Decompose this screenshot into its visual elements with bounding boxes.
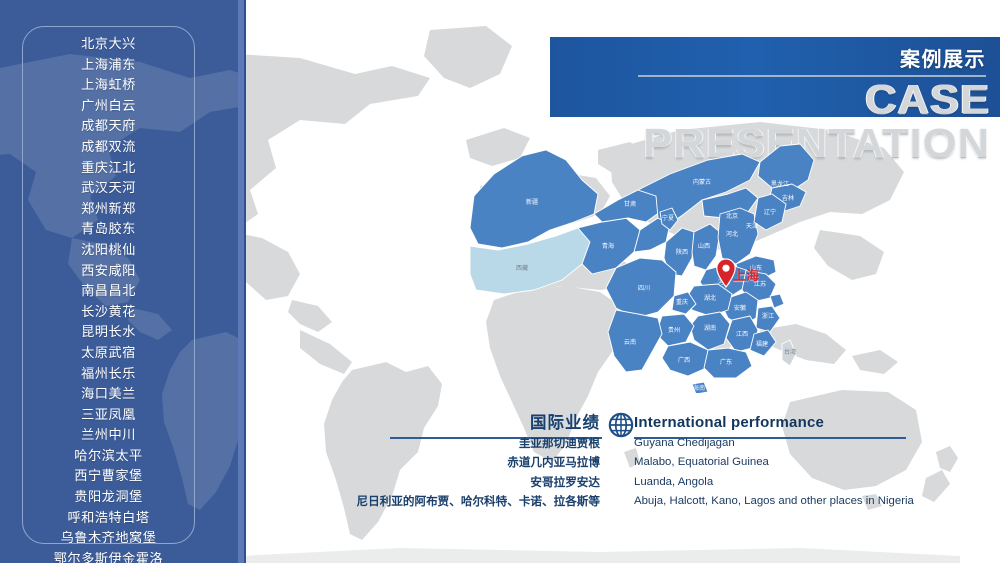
perf-row-cn: 赤道几内亚马拉博	[200, 453, 600, 472]
slide-canvas: 北京大兴上海浦东上海虹桥广州白云成都天府成都双流重庆江北武汉天河郑州新郑青岛胶东…	[0, 0, 1000, 563]
svg-text:四川: 四川	[638, 285, 650, 292]
svg-text:云南: 云南	[624, 338, 636, 346]
svg-text:天津: 天津	[746, 222, 758, 230]
perf-rows-en: Guyana ChedijaganMalabo, Equatorial Guin…	[634, 434, 964, 512]
svg-text:北京: 北京	[726, 212, 738, 220]
perf-row-en: Luanda, Angola	[634, 473, 964, 492]
svg-text:青海: 青海	[602, 242, 614, 250]
svg-text:台湾: 台湾	[784, 348, 796, 356]
svg-text:江西: 江西	[736, 331, 748, 338]
svg-text:甘肃: 甘肃	[624, 200, 636, 208]
svg-text:湖北: 湖北	[704, 294, 716, 302]
airport-list-item[interactable]: 成都双流	[81, 138, 136, 159]
perf-heading-cn: 国际业绩	[200, 412, 600, 434]
svg-text:海南: 海南	[693, 384, 705, 392]
globe-icon	[608, 412, 634, 438]
svg-text:福建: 福建	[756, 340, 768, 348]
perf-row-cn: 尼日利亚的阿布贾、哈尔科特、卡诺、拉各斯等	[200, 492, 600, 511]
airport-list-item[interactable]: 昆明长水	[81, 323, 136, 344]
svg-text:广西: 广西	[678, 356, 690, 364]
svg-text:辽宁: 辽宁	[764, 208, 776, 216]
international-performance-section: 国际业绩 圭亚那切迪贾根赤道几内亚马拉博安哥拉罗安达尼日利亚的阿布贾、哈尔科特、…	[0, 412, 1000, 532]
airport-list-item[interactable]: 西安咸阳	[81, 262, 136, 283]
svg-text:宁夏: 宁夏	[662, 214, 674, 222]
svg-text:浙江: 浙江	[762, 312, 774, 320]
title-banner: 案例展示 CASE PRESENTATION	[550, 37, 1000, 117]
svg-text:内蒙古: 内蒙古	[693, 178, 711, 186]
airport-list-item[interactable]: 沈阳桃仙	[81, 241, 136, 262]
svg-text:西藏: 西藏	[516, 264, 528, 272]
airport-list-item[interactable]: 太原武宿	[81, 344, 136, 365]
svg-text:黑龙江: 黑龙江	[771, 180, 789, 188]
airport-list-item[interactable]: 青岛胶东	[81, 220, 136, 241]
airport-list-item[interactable]: 长沙黄花	[81, 303, 136, 324]
airport-list-item[interactable]: 鄂尔多斯伊金霍洛	[54, 550, 164, 563]
airport-list-item[interactable]: 成都天府	[81, 117, 136, 138]
perf-column-cn: 国际业绩 圭亚那切迪贾根赤道几内亚马拉博安哥拉罗安达尼日利亚的阿布贾、哈尔科特、…	[200, 412, 600, 512]
airport-list-item[interactable]: 重庆江北	[81, 159, 136, 180]
perf-heading-en: International performance	[634, 412, 964, 434]
airport-list-item[interactable]: 上海虹桥	[81, 76, 136, 97]
china-map: 新疆 西藏 青海 甘肃 内蒙古 宁夏 陕西 山西 河北 北京 天津 山东 河南 …	[470, 118, 830, 393]
airport-list-item[interactable]: 乌鲁木齐地窝堡	[61, 529, 157, 550]
svg-text:安徽: 安徽	[734, 304, 746, 312]
perf-row-en: Guyana Chedijagan	[634, 434, 964, 453]
perf-row-cn: 安哥拉罗安达	[200, 473, 600, 492]
airport-list-item[interactable]: 上海浦东	[81, 56, 136, 77]
svg-text:重庆: 重庆	[676, 298, 688, 306]
airport-list-item[interactable]: 郑州新郑	[81, 200, 136, 221]
perf-column-en: International performance Guyana Chedija…	[634, 412, 964, 512]
svg-text:河北: 河北	[726, 230, 738, 238]
perf-row-en: Malabo, Equatorial Guinea	[634, 453, 964, 472]
svg-text:新疆: 新疆	[526, 198, 538, 206]
svg-text:广东: 广东	[720, 358, 732, 366]
airport-list-item[interactable]: 海口美兰	[81, 385, 136, 406]
airport-list-item[interactable]: 武汉天河	[81, 179, 136, 200]
perf-rows-cn: 圭亚那切迪贾根赤道几内亚马拉博安哥拉罗安达尼日利亚的阿布贾、哈尔科特、卡诺、拉各…	[200, 434, 600, 512]
airport-list-item[interactable]: 北京大兴	[81, 35, 136, 56]
perf-row-en: Abuja, Halcott, Kano, Lagos and other pl…	[634, 492, 964, 511]
banner-title-cn: 案例展示	[900, 43, 986, 72]
shanghai-marker-label: 上海	[733, 265, 759, 284]
svg-text:陕西: 陕西	[676, 248, 688, 256]
svg-text:吉林: 吉林	[782, 194, 794, 202]
svg-text:贵州: 贵州	[668, 326, 680, 334]
svg-text:山西: 山西	[698, 242, 710, 250]
perf-row-cn: 圭亚那切迪贾根	[200, 434, 600, 453]
airport-list-item[interactable]: 广州白云	[81, 97, 136, 118]
svg-text:湖南: 湖南	[704, 324, 716, 332]
airport-list-item[interactable]: 福州长乐	[81, 365, 136, 386]
airport-list-item[interactable]: 南昌昌北	[81, 282, 136, 303]
